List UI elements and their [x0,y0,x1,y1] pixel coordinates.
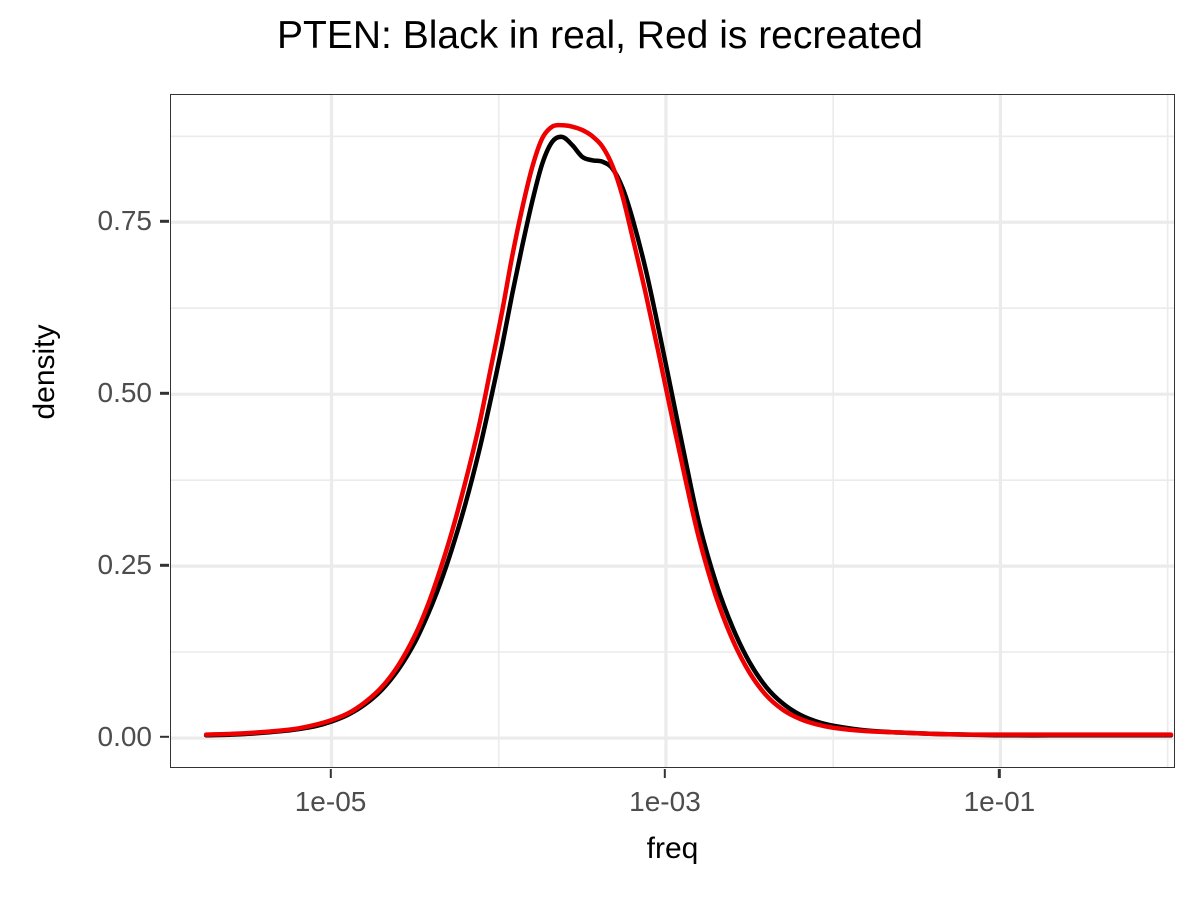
x-axis-title: freq [170,832,1175,866]
x-tick-mark [329,769,331,778]
y-tick-mark [160,564,169,566]
x-tick-label: 1e-05 [241,786,421,818]
y-tick-mark [160,220,169,222]
x-tick-label: 1e-01 [909,786,1089,818]
y-tick-mark [160,736,169,738]
density-curve-recreated [206,125,1171,735]
y-tick-label: 0.50 [42,377,152,409]
y-axis-title: density [28,272,62,472]
y-tick-mark [160,392,169,394]
chart-root: PTEN: Black in real, Red is recreated de… [0,0,1200,900]
x-tick-mark [998,769,1000,778]
chart-title: PTEN: Black in real, Red is recreated [0,14,1200,58]
y-tick-label: 0.25 [42,549,152,581]
y-tick-label: 0.00 [42,721,152,753]
plot-area [171,95,1175,768]
y-tick-label: 0.75 [42,205,152,237]
x-tick-mark [664,769,666,778]
density-curve-real [206,137,1171,736]
x-tick-label: 1e-03 [575,786,755,818]
plot-panel [170,94,1175,768]
